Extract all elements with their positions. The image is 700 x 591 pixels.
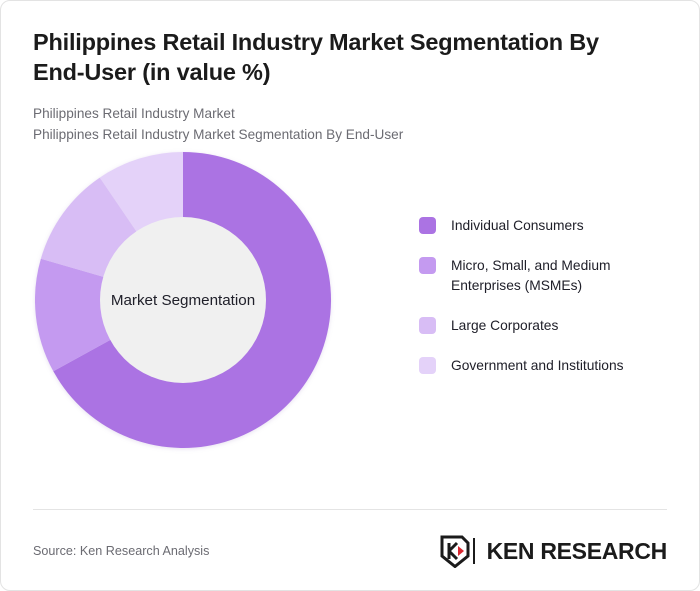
shield-k-icon (440, 535, 470, 568)
legend-item[interactable]: Individual Consumers (419, 216, 669, 236)
source-note: Source: Ken Research Analysis (33, 544, 209, 558)
legend-item[interactable]: Micro, Small, and Medium Enterprises (MS… (419, 256, 669, 296)
legend-item[interactable]: Government and Institutions (419, 356, 669, 376)
legend-item[interactable]: Large Corporates (419, 316, 669, 336)
footer-divider (33, 509, 667, 510)
chart-card: Philippines Retail Industry Market Segme… (0, 0, 700, 591)
legend-swatch-icon (419, 357, 436, 374)
legend-label: Micro, Small, and Medium Enterprises (MS… (451, 256, 656, 296)
page-title: Philippines Retail Industry Market Segme… (33, 27, 653, 87)
chart-footer: Source: Ken Research Analysis KEN RESEAR… (33, 531, 667, 571)
legend-label: Large Corporates (451, 316, 558, 336)
legend-label: Individual Consumers (451, 216, 584, 236)
chart-header: Philippines Retail Industry Market Segme… (1, 1, 699, 145)
legend-swatch-icon (419, 317, 436, 334)
donut-hole (100, 217, 266, 383)
legend-swatch-icon (419, 217, 436, 234)
chart-legend: Individual ConsumersMicro, Small, and Me… (419, 216, 669, 396)
ken-research-logo: KEN RESEARCH (440, 535, 667, 568)
logo-wordmark: KEN RESEARCH (487, 538, 667, 565)
subtitle-secondary: Philippines Retail Industry Market Segme… (33, 124, 667, 145)
logo-divider-icon (470, 536, 478, 566)
legend-label: Government and Institutions (451, 356, 624, 376)
subtitle-primary: Philippines Retail Industry Market (33, 103, 667, 124)
chart-area: Market Segmentation Individual Consumers… (1, 151, 699, 481)
donut-svg (34, 151, 332, 449)
subtitle-group: Philippines Retail Industry Market Phili… (33, 103, 667, 145)
legend-swatch-icon (419, 257, 436, 274)
donut-chart: Market Segmentation (34, 151, 332, 449)
